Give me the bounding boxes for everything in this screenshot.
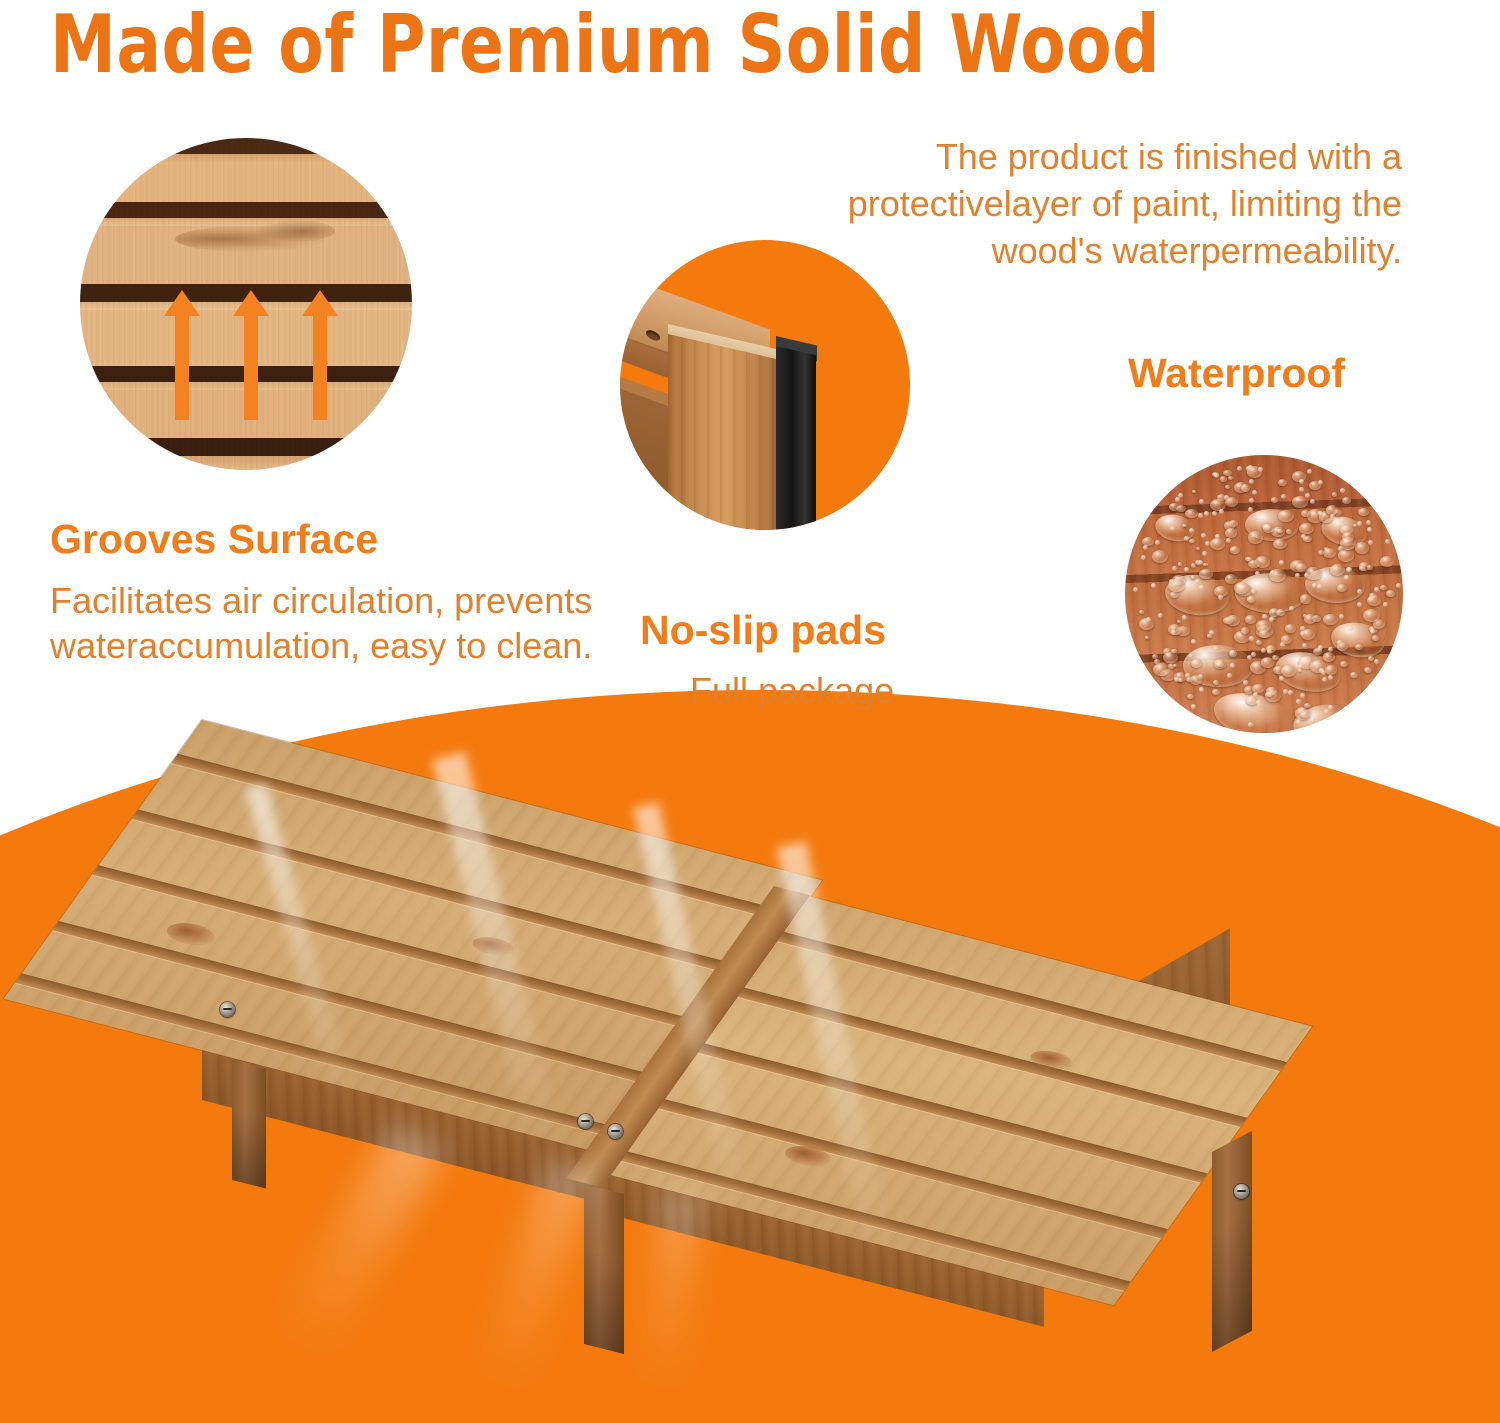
water-droplet (1189, 539, 1195, 544)
water-droplet (1261, 657, 1274, 667)
water-droplet (1359, 566, 1365, 571)
water-droplet (1367, 565, 1373, 570)
water-droplet (1310, 499, 1315, 504)
water-droplet (1300, 626, 1305, 631)
water-droplet (1317, 584, 1322, 589)
water-droplet (1307, 469, 1312, 474)
infographic-page: Made of Premium Solid Wood Grooves Surfa… (0, 0, 1500, 1423)
water-droplet (1328, 675, 1333, 680)
water-droplet (1385, 539, 1390, 544)
water-droplet (1374, 659, 1379, 664)
water-droplet (1198, 674, 1203, 679)
light-ray (274, 1121, 446, 1359)
water-droplet (1357, 521, 1362, 526)
water-droplet (1230, 650, 1235, 655)
water-droplet (1340, 518, 1345, 523)
water-droplet (1270, 570, 1275, 575)
water-droplet (1300, 594, 1312, 603)
water-droplet (1340, 488, 1345, 493)
water-droplet (1299, 523, 1313, 534)
water-droplet (1191, 659, 1202, 668)
water-droplet (1357, 589, 1362, 594)
water-droplet (1203, 563, 1207, 566)
water-droplet (1367, 527, 1372, 532)
water-droplet (1252, 490, 1257, 495)
water-droplet (1337, 584, 1347, 592)
no-slip-pads-body-text: Full package (690, 668, 894, 713)
water-droplet (1305, 493, 1310, 498)
no-slip-pads-heading: No-slip pads (640, 607, 886, 654)
water-droplet (1366, 520, 1371, 525)
water-droplet (1286, 529, 1292, 534)
water-droplet (1321, 670, 1326, 675)
water-droplet (1174, 677, 1179, 682)
screw (220, 1002, 235, 1017)
water-droplet (1226, 538, 1231, 543)
water-droplet (1289, 606, 1294, 611)
water-droplet (1230, 546, 1240, 553)
page-title: Made of Premium Solid Wood (50, 2, 1356, 88)
product-leg (1212, 1131, 1252, 1352)
grooves-surface-image (80, 138, 412, 470)
water-droplet (1198, 513, 1203, 518)
water-droplet (1170, 591, 1179, 598)
water-droplet (1278, 510, 1294, 522)
water-droplet (1374, 587, 1379, 592)
screw-hole (646, 328, 660, 342)
water-droplet (1278, 479, 1287, 486)
water-droplet (1146, 617, 1151, 622)
water-droplet (1228, 476, 1233, 480)
water-droplet (1237, 466, 1242, 471)
no-slip-pad-image (620, 240, 910, 530)
waterproof-body-text: The product is finished with a protectiv… (790, 133, 1402, 274)
water-droplet (1258, 467, 1263, 472)
grooves-body-text: Facilitates air circulation, prevents wa… (50, 578, 650, 668)
water-droplet (1347, 567, 1352, 572)
water-droplet (1248, 507, 1253, 512)
water-droplet (1185, 509, 1197, 519)
water-droplet (1220, 476, 1227, 482)
product-leg (232, 1060, 266, 1188)
water-droplet (1279, 560, 1284, 565)
water-droplet (1338, 546, 1343, 551)
water-droplet (1189, 528, 1194, 533)
water-droplet (1191, 639, 1196, 644)
water-droplet (1299, 479, 1304, 484)
grooves-heading: Grooves Surface (50, 516, 378, 563)
water-droplet (1218, 595, 1223, 600)
water-droplet (1192, 490, 1196, 493)
water-droplet (1184, 567, 1189, 572)
water-droplet (1195, 579, 1200, 584)
airflow-arrow-up-icon (313, 314, 327, 420)
water-droplet (1312, 583, 1317, 588)
screw (608, 1124, 623, 1139)
water-droplet (1170, 526, 1175, 531)
water-droplet (1330, 514, 1335, 519)
water-droplet (1199, 569, 1213, 580)
product-leg (584, 1184, 624, 1354)
water-droplet (1355, 542, 1370, 553)
water-droplet (1372, 635, 1379, 641)
water-droplet (1304, 573, 1309, 578)
water-droplet (1396, 583, 1401, 588)
airflow-arrow-up-icon (244, 314, 258, 420)
water-droplet (1263, 524, 1274, 533)
water-droplet (1310, 718, 1315, 723)
water-droplet (1299, 487, 1304, 492)
water-droplet (1249, 479, 1254, 484)
water-droplet (1292, 496, 1308, 508)
leg-shading (584, 1184, 624, 1354)
water-droplet (1153, 663, 1170, 676)
water-droplet (1191, 563, 1196, 567)
water-droplet (1171, 630, 1176, 635)
water-droplet (1281, 494, 1286, 499)
water-droplet (1185, 673, 1190, 678)
water-droplet (1251, 589, 1256, 593)
water-droplet (1141, 555, 1146, 560)
water-droplet (1339, 614, 1344, 619)
screw (578, 1114, 593, 1129)
water-droplet (1152, 654, 1158, 659)
water-droplet (1169, 579, 1174, 584)
water-droplet (1344, 575, 1349, 580)
water-droplet (1225, 485, 1230, 489)
water-droplet (1224, 495, 1229, 500)
water-droplet (1318, 645, 1323, 650)
water-droplet (1230, 663, 1235, 668)
water-droplet (1330, 564, 1345, 576)
water-droplet (1178, 493, 1183, 498)
water-droplet (1301, 510, 1310, 517)
water-droplet (1325, 665, 1338, 675)
wood-knot (255, 220, 335, 242)
water-droplet (1219, 509, 1224, 514)
water-droplet (1247, 596, 1255, 602)
water-droplet (1368, 597, 1373, 602)
waterproof-heading: Waterproof (1128, 350, 1345, 397)
airflow-arrow-up-icon (175, 314, 189, 420)
water-droplet (1380, 556, 1394, 567)
water-droplet (1186, 677, 1192, 682)
water-droplet (1323, 548, 1336, 558)
leg-shading (232, 1060, 266, 1188)
water-droplet (1386, 590, 1394, 596)
water-droplet (1358, 508, 1369, 517)
water-droplet (1340, 661, 1347, 667)
black-no-slip-pad (776, 346, 816, 530)
water-droplet (1163, 652, 1177, 663)
water-droplet (1357, 602, 1362, 607)
water-droplet (1243, 680, 1248, 685)
water-droplet (1225, 574, 1238, 584)
water-droplet (1368, 540, 1373, 545)
water-droplet (1323, 652, 1335, 661)
water-droplet (1304, 614, 1316, 623)
water-droplet (1234, 582, 1249, 594)
leg-shading (1212, 1131, 1252, 1352)
water-droplet (1328, 647, 1333, 652)
water-droplet (1182, 524, 1186, 527)
water-droplet (1248, 560, 1259, 569)
water-droplet (1332, 492, 1338, 496)
water-droplet (1191, 575, 1195, 578)
water-droplet (1213, 680, 1219, 685)
water-droplet (1223, 617, 1232, 624)
screw (1234, 1184, 1249, 1199)
water-droplet (1273, 539, 1286, 549)
water-droplet (1178, 678, 1183, 682)
water-droplet (1298, 669, 1302, 672)
water-droplet (1380, 585, 1387, 590)
water-droplet (1143, 545, 1148, 550)
water-droplet (1248, 531, 1264, 543)
water-droplet (1262, 614, 1267, 619)
water-droplet (1248, 465, 1253, 470)
water-droplet (1152, 550, 1168, 563)
water-droplet (1205, 541, 1210, 546)
water-droplet (1337, 640, 1342, 645)
leg-grain-overlay (668, 334, 778, 530)
product-photo (180, 690, 1310, 1400)
water-droplet (1245, 615, 1256, 623)
water-droplet (1178, 562, 1183, 566)
